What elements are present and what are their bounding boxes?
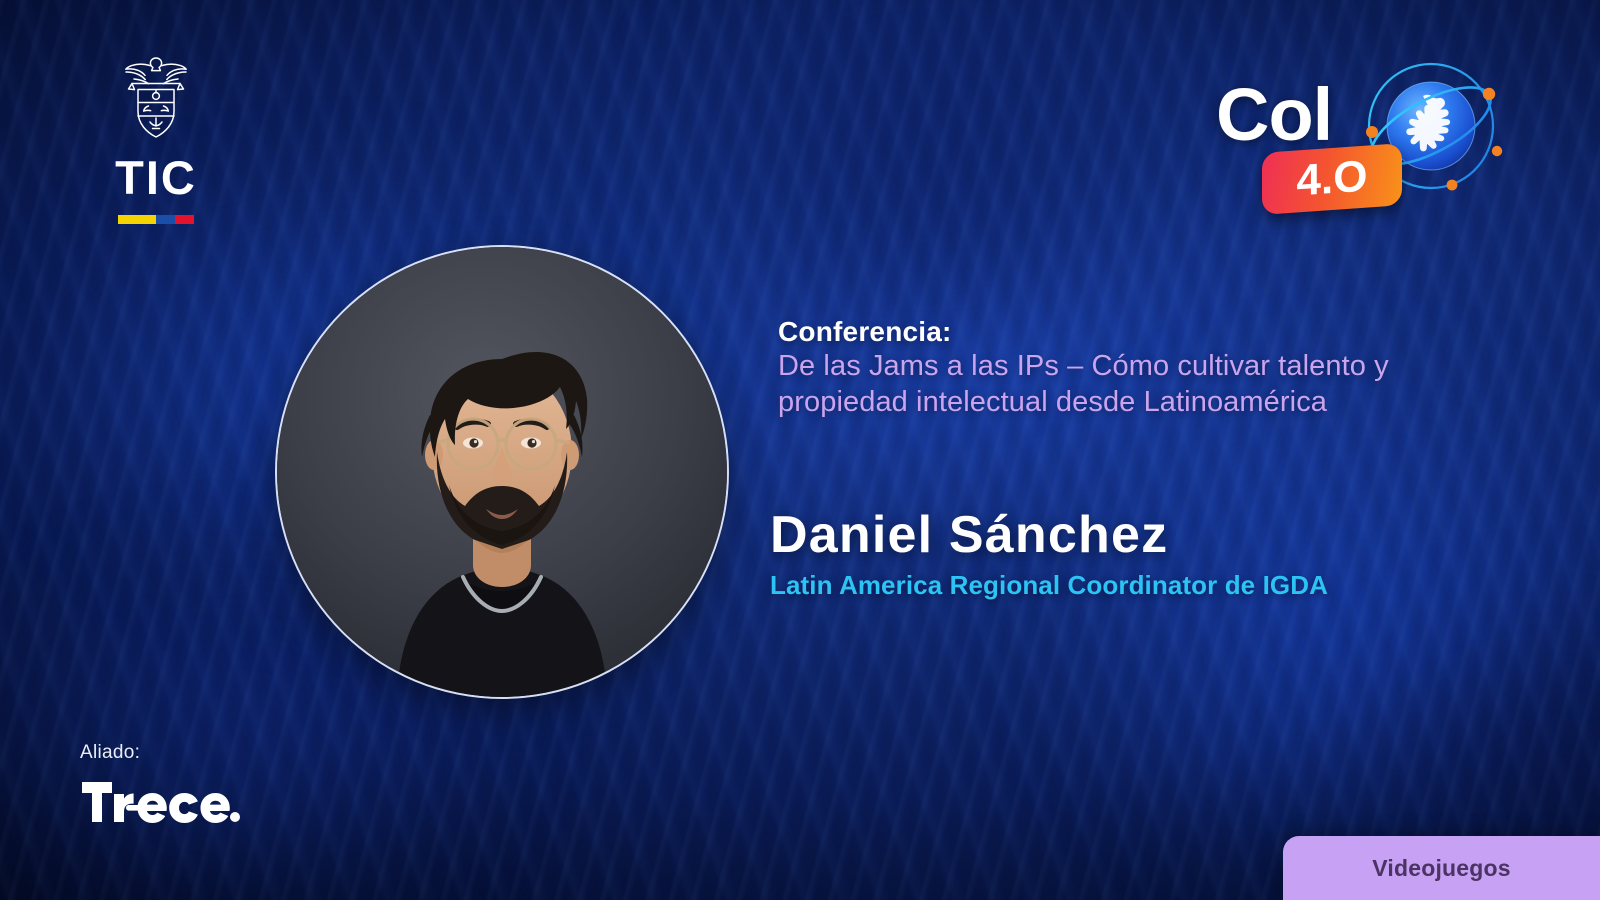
ally-label: Aliado: bbox=[80, 742, 330, 764]
trece-logo bbox=[80, 776, 330, 833]
flag-stripe-red bbox=[175, 215, 194, 224]
colombia-flag-bar bbox=[118, 215, 194, 224]
speaker-portrait bbox=[277, 247, 727, 697]
version-badge: 4.O bbox=[1262, 143, 1402, 215]
category-badge[interactable]: Videojuegos bbox=[1283, 836, 1600, 900]
col40-brand-logo: Col bbox=[1206, 52, 1506, 232]
ministry-tic-logo: TIC bbox=[96, 52, 216, 224]
orbit-dot-2 bbox=[1492, 146, 1502, 156]
orbit-dot-3 bbox=[1366, 126, 1378, 138]
category-badge-label: Videojuegos bbox=[1372, 855, 1511, 882]
orbit-dot-1 bbox=[1483, 88, 1495, 100]
talk-block: Conferencia: De las Jams a las IPs – Cóm… bbox=[778, 316, 1478, 420]
ally-block: Aliado: bbox=[80, 742, 330, 833]
presentation-slide: TIC Col bbox=[0, 0, 1600, 900]
speaker-block: Daniel Sánchez Latin America Regional Co… bbox=[770, 508, 1490, 600]
speaker-name: Daniel Sánchez bbox=[770, 508, 1490, 563]
speaker-portrait-image bbox=[277, 247, 727, 697]
col-wordmark: Col bbox=[1216, 78, 1332, 152]
tic-wordmark: TIC bbox=[96, 154, 216, 201]
talk-title: De las Jams a las IPs – Cómo cultivar ta… bbox=[778, 349, 1478, 420]
version-badge-label: 4.O bbox=[1262, 143, 1402, 215]
colombia-coat-of-arms-icon bbox=[112, 52, 200, 148]
flag-stripe-blue bbox=[156, 215, 175, 224]
flag-stripe-yellow bbox=[118, 215, 156, 224]
talk-label: Conferencia: bbox=[778, 316, 1478, 348]
speaker-role: Latin America Regional Coordinator de IG… bbox=[770, 571, 1490, 601]
orbit-dot-4 bbox=[1447, 180, 1458, 191]
